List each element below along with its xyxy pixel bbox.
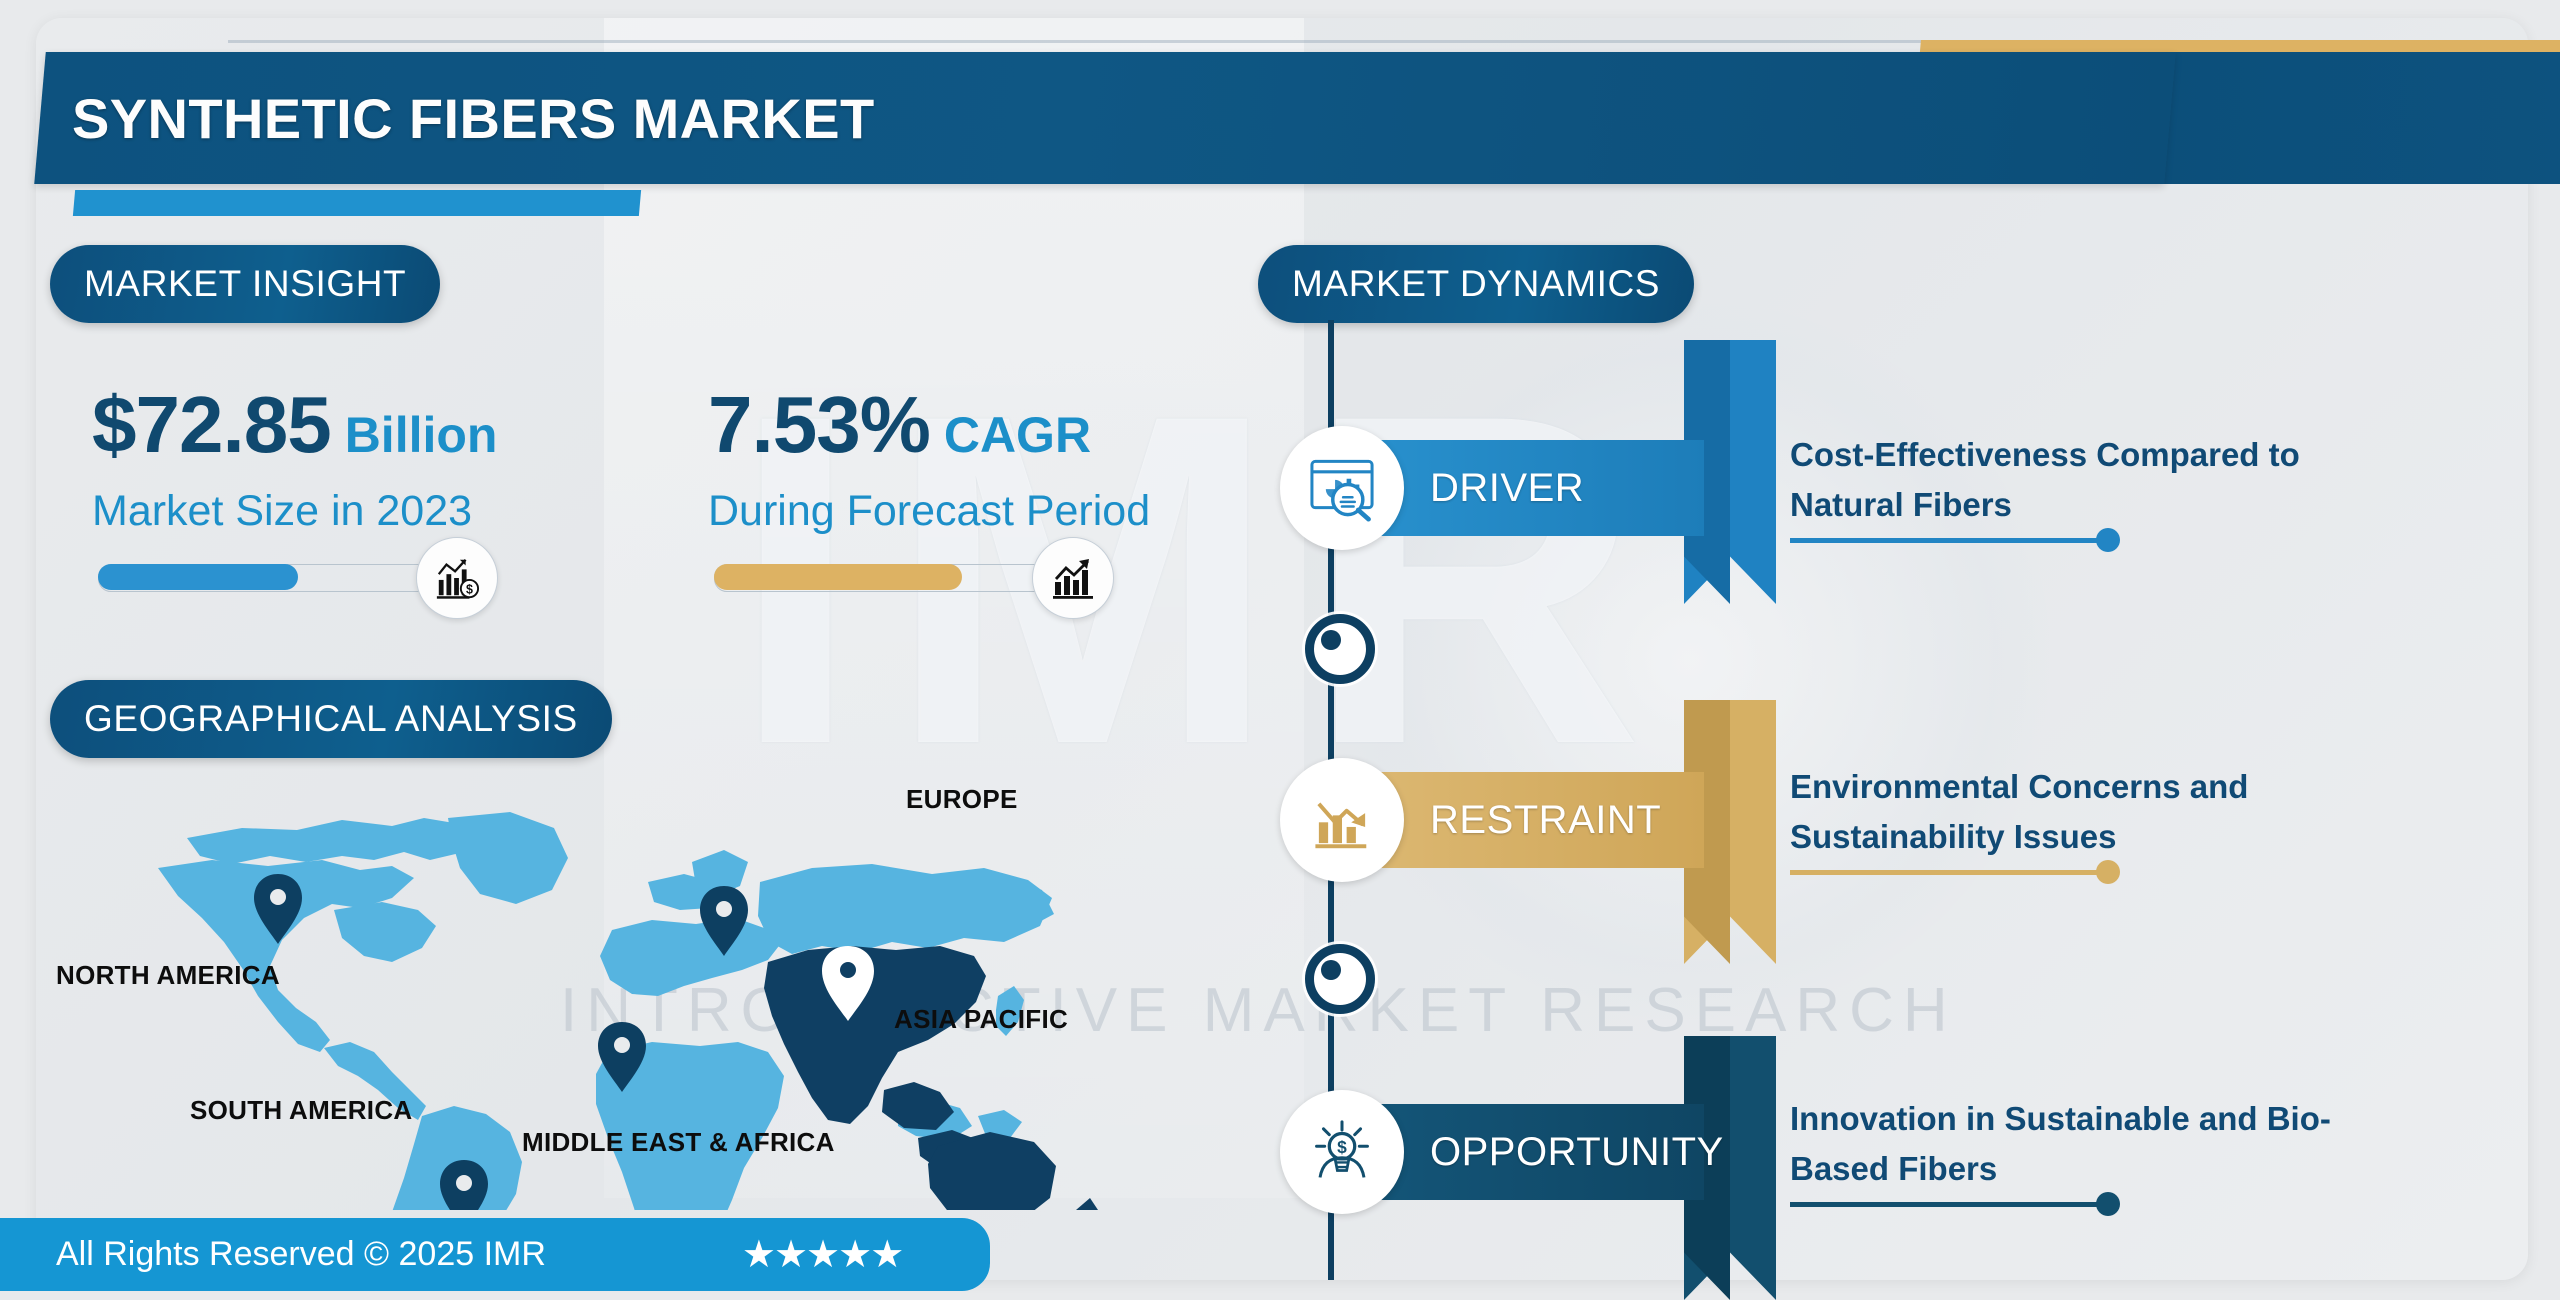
section-pill-market-dynamics: MARKET DYNAMICS: [1258, 245, 1694, 323]
dynamics-label-driver: DRIVER: [1430, 466, 1584, 511]
declining-bar-chart-icon: [1280, 758, 1404, 882]
dynamics-label-opportunity: OPPORTUNITY: [1430, 1130, 1724, 1175]
dynamics-bar-driver: DRIVER: [1284, 440, 1704, 536]
connector-dot-driver: [2096, 528, 2120, 552]
footer-rating-stars: ★★★★★: [742, 1232, 902, 1277]
dashboard-analytics-magnifier-icon: [1280, 426, 1404, 550]
connector-dot-opportunity: [2096, 1192, 2120, 1216]
lightbulb-dollar-idea-icon: $: [1280, 1090, 1404, 1214]
svg-text:$: $: [466, 582, 473, 596]
connector-opportunity: [1790, 1202, 2110, 1207]
progress-bar-market-size: $: [98, 564, 438, 590]
progress-bar-cagr: [714, 564, 1054, 590]
map-label-north-america: NORTH AMERICA: [56, 960, 280, 991]
bar-chart-dollar-icon: $: [416, 537, 498, 619]
map-label-middle-east-africa: MIDDLE EAST & AFRICA: [522, 1127, 835, 1158]
map-label-south-america: SOUTH AMERICA: [190, 1095, 413, 1126]
growth-arrow-chart-icon: [1032, 537, 1114, 619]
kpi-value-cagr: 7.53%: [708, 380, 930, 469]
infographic-canvas: IMR INTROSPECTIVE MARKET RESEARCH SYNTHE…: [0, 0, 2560, 1291]
kpi-cagr: 7.53%CAGR During Forecast Period: [708, 385, 1150, 536]
map-label-asia-pacific: ASIA PACIFIC: [894, 1004, 1068, 1035]
kpi-caption-cagr: During Forecast Period: [708, 487, 1150, 536]
timeline-node-2: [1305, 944, 1375, 1014]
kpi-market-size: $72.85Billion Market Size in 2023: [92, 385, 497, 536]
dynamics-label-restraint: RESTRAINT: [1430, 798, 1661, 843]
connector-restraint: [1790, 870, 2110, 875]
dynamics-bar-restraint: RESTRAINT: [1284, 772, 1704, 868]
progress-fill: [714, 564, 962, 590]
map-pin-south-america: [440, 1160, 488, 1210]
dynamics-bar-opportunity: $ OPPORTUNITY: [1284, 1104, 1704, 1200]
kpi-unit-cagr: CAGR: [944, 407, 1091, 463]
map-label-europe: EUROPE: [906, 784, 1018, 815]
kpi-value-market-size: $72.85: [92, 380, 331, 469]
footer-bar: All Rights Reserved © 2025 IMR ★★★★★: [0, 1218, 990, 1291]
kpi-caption-market-size: Market Size in 2023: [92, 487, 497, 536]
svg-text:$: $: [1337, 1137, 1347, 1157]
connector-dot-restraint: [2096, 860, 2120, 884]
map-highlight-asia-pacific: [764, 946, 1110, 1210]
timeline-node-1: [1305, 614, 1375, 684]
footer-copyright: All Rights Reserved © 2025 IMR: [56, 1235, 546, 1274]
dynamics-description-restraint: Environmental Concerns and Sustainabilit…: [1790, 762, 2390, 862]
world-map: NORTH AMERICA SOUTH AMERICA EUROPE ASIA …: [92, 790, 1132, 1210]
dynamics-description-driver: Cost-Effectiveness Compared to Natural F…: [1790, 430, 2390, 530]
section-pill-market-insight: MARKET INSIGHT: [50, 245, 440, 323]
progress-fill: [98, 564, 298, 590]
kpi-unit-market-size: Billion: [345, 407, 498, 463]
section-pill-geographical-analysis: GEOGRAPHICAL ANALYSIS: [50, 680, 612, 758]
dynamics-description-opportunity: Innovation in Sustainable and Bio-Based …: [1790, 1094, 2410, 1194]
connector-driver: [1790, 538, 2110, 543]
